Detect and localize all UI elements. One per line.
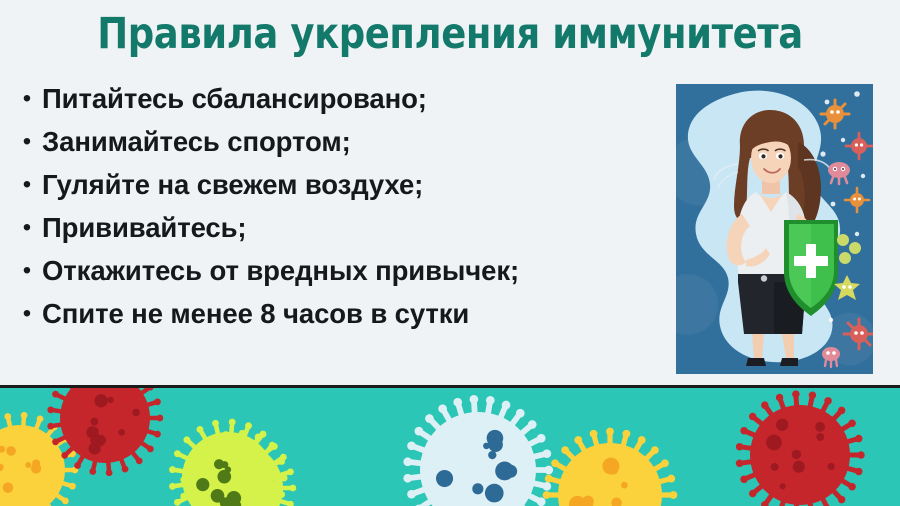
bullet-marker-icon: •	[12, 254, 42, 288]
virus-red-top-left	[47, 388, 163, 476]
immunity-illustration	[676, 84, 873, 374]
list-item: • Откажитесь от вредных привычек;	[12, 254, 662, 297]
virus-lightblue-center	[403, 395, 553, 506]
list-item-label: Гуляйте на свежем воздухе;	[42, 168, 423, 202]
list-item: • Спите не менее 8 часов в сутки	[12, 297, 662, 340]
bullet-marker-icon: •	[12, 168, 42, 202]
page-title: Правила укрепления иммунитета	[63, 12, 837, 57]
list-item: • Занимайтесь спортом;	[12, 125, 662, 168]
virus-band	[0, 388, 900, 506]
bullet-list: • Питайтесь сбалансировано; • Занимайтес…	[12, 82, 662, 340]
bullet-marker-icon: •	[12, 297, 42, 331]
bullet-marker-icon: •	[12, 82, 42, 116]
list-item: • Питайтесь сбалансировано;	[12, 82, 662, 125]
virus-red-right	[736, 390, 865, 506]
virus-green-center	[169, 419, 288, 506]
bullet-marker-icon: •	[12, 125, 42, 159]
virus-band-graphic	[0, 388, 900, 506]
list-item: • Гуляйте на свежем воздухе;	[12, 168, 662, 211]
bullet-marker-icon: •	[12, 211, 42, 245]
list-item-label: Занимайтесь спортом;	[42, 125, 351, 159]
list-item-label: Прививайтесь;	[42, 211, 246, 245]
list-item-label: Питайтесь сбалансировано;	[42, 82, 427, 116]
virus-yellow-right	[543, 428, 678, 506]
germ-characters	[813, 84, 873, 374]
list-item-label: Спите не менее 8 часов в сутки	[42, 297, 469, 331]
slide-root: Правила укрепления иммунитета • Питайтес…	[0, 0, 900, 506]
list-item: • Прививайтесь;	[12, 211, 662, 254]
list-item-label: Откажитесь от вредных привычек;	[42, 254, 519, 288]
